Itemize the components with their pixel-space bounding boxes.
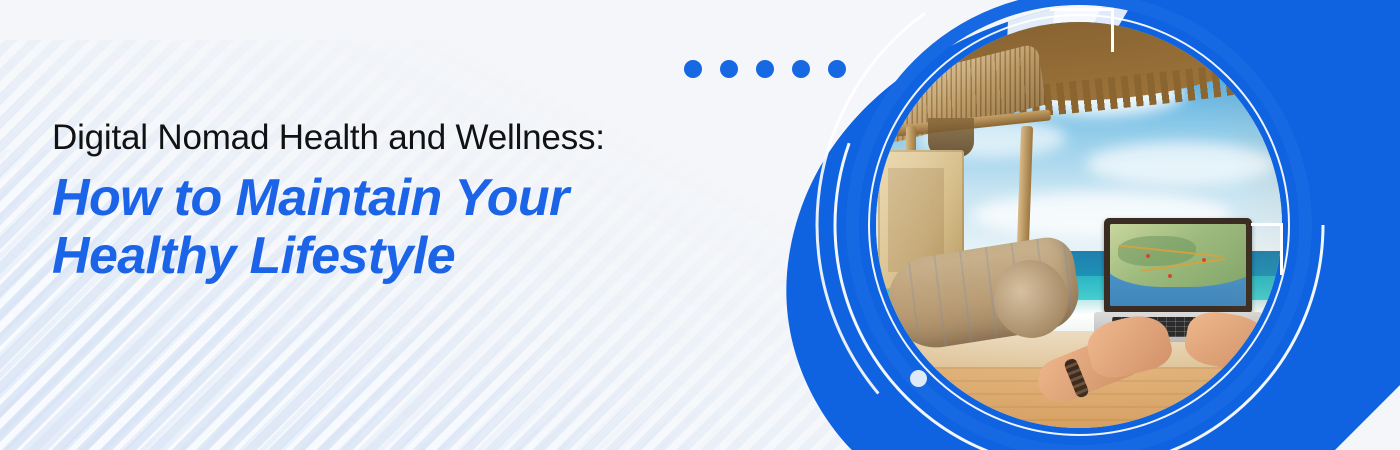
- map-pin-3: [1146, 254, 1150, 258]
- banner-headline: How to Maintain Your Healthy Lifestyle: [52, 169, 792, 285]
- beach-laptop-photo: [876, 22, 1282, 428]
- dot-icon-2: [720, 60, 738, 78]
- laptop: [1094, 218, 1262, 358]
- dot-icon-3: [756, 60, 774, 78]
- banner-kicker: Digital Nomad Health and Wellness:: [52, 118, 792, 157]
- dot-icon-1: [684, 60, 702, 78]
- cloud-3: [1086, 142, 1276, 186]
- headline-block: Digital Nomad Health and Wellness: How t…: [52, 118, 792, 286]
- photo-medallion: [846, 0, 1312, 450]
- photo-scene: [876, 22, 1282, 428]
- dot-icon-4: [792, 60, 810, 78]
- map-land: [1110, 224, 1246, 287]
- laptop-lid: [1104, 218, 1252, 314]
- headline-line-1: How to Maintain Your: [52, 169, 569, 227]
- map-pin-1: [1168, 274, 1172, 278]
- headline-line-2: Healthy Lifestyle: [52, 227, 792, 285]
- decorative-dot-row: [684, 60, 846, 78]
- laptop-screen: [1110, 224, 1246, 306]
- dot-icon-5: [828, 60, 846, 78]
- marketing-banner: Digital Nomad Health and Wellness: How t…: [0, 0, 1400, 450]
- map-pin-2: [1202, 258, 1206, 262]
- arc-endpoint-dot: [910, 370, 927, 387]
